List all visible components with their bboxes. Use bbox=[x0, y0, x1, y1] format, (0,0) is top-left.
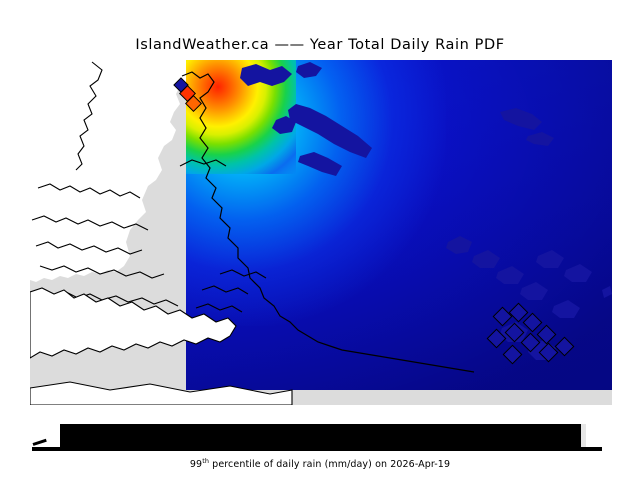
colorbar-endcap bbox=[581, 424, 586, 447]
colorbar-axis-arrow bbox=[33, 439, 47, 446]
caption-percentile-number: 99 bbox=[190, 459, 202, 470]
caption-text: percentile of daily rain (mm/day) on bbox=[209, 459, 390, 470]
colorbar-caption: 99th percentile of daily rain (mm/day) o… bbox=[0, 459, 640, 470]
caption-date: 2026-Apr-19 bbox=[390, 459, 450, 470]
rain-data-field bbox=[186, 60, 612, 390]
data-field-primary-hotspot bbox=[186, 60, 296, 174]
colorbar-gradient bbox=[60, 424, 581, 447]
map-panel[interactable] bbox=[30, 60, 612, 405]
colorbar[interactable] bbox=[60, 424, 585, 448]
colorbar-axis-line bbox=[32, 447, 602, 451]
page-title: IslandWeather.ca —— Year Total Daily Rai… bbox=[0, 37, 640, 53]
weather-map-figure: IslandWeather.ca —— Year Total Daily Rai… bbox=[0, 0, 640, 480]
